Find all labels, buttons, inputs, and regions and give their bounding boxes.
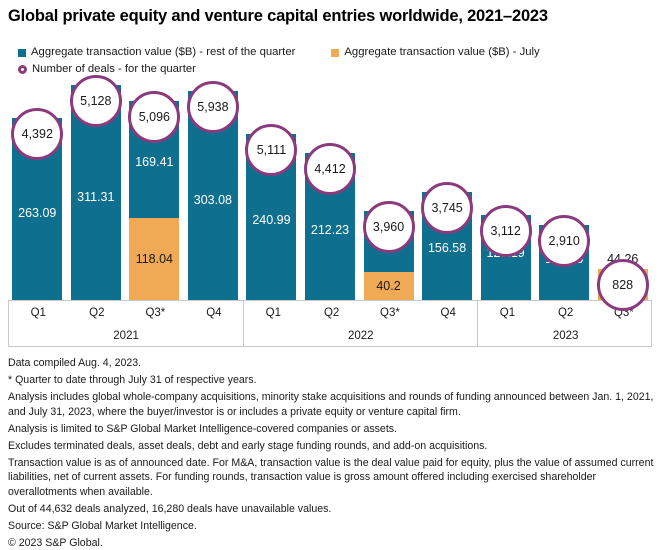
footnote-7: Out of 44,632 deals analyzed, 16,280 dea…: [8, 502, 654, 516]
deal-count-bubble[interactable]: 5,111: [245, 124, 297, 176]
footnote-2: * Quarter to date through July 31 of res…: [8, 373, 654, 387]
deal-count-bubble[interactable]: 3,745: [421, 182, 473, 234]
quarter-label-Q4[interactable]: Q4: [185, 301, 244, 326]
bar-value-label-rest-of-quarter: 240.99: [246, 213, 296, 227]
quarter-label-Q3star[interactable]: Q3*: [361, 301, 419, 326]
quarter-label-Q3star[interactable]: Q3*: [126, 301, 185, 326]
bar-value-label-rest-of-quarter: 303.08: [188, 193, 238, 207]
bar-value-label-rest-of-quarter: 212.23: [305, 223, 355, 237]
footnote-5: Excludes terminated deals, asset deals, …: [8, 439, 654, 453]
footnote-9: © 2023 S&P Global.: [8, 536, 654, 550]
year-cell-2022: Q1Q2Q3*Q42022: [243, 301, 477, 346]
year-label-2023: 2023: [478, 326, 653, 346]
quarter-label-Q2[interactable]: Q2: [68, 301, 127, 326]
quarter-label-Q2[interactable]: Q2: [537, 301, 595, 326]
bar-chart-plot-area: 263.094,392311.315,128118.04169.415,0963…: [0, 0, 660, 350]
bar-value-label-rest-of-quarter: 169.41: [129, 155, 179, 169]
footnote-8: Source: S&P Global Market Intelligence.: [8, 519, 654, 533]
footnote-6: Transaction value is as of announced dat…: [8, 456, 654, 499]
deal-count-bubble[interactable]: 5,938: [187, 81, 239, 133]
bar-value-label-july: 118.04: [129, 252, 179, 266]
deal-count-bubble[interactable]: 5,128: [70, 75, 122, 127]
footnotes-block: Data compiled Aug. 4, 2023.* Quarter to …: [8, 356, 654, 550]
footnote-1: Data compiled Aug. 4, 2023.: [8, 356, 654, 370]
year-label-2021: 2021: [9, 326, 243, 346]
footnote-3: Analysis includes global whole-company a…: [8, 390, 654, 418]
quarter-label-row: Q1Q2Q3*Q4: [9, 301, 243, 326]
quarter-label-Q1[interactable]: Q1: [9, 301, 68, 326]
quarter-label-Q4[interactable]: Q4: [419, 301, 477, 326]
year-cell-2021: Q1Q2Q3*Q42021: [9, 301, 243, 346]
bar-value-label-rest-of-quarter: 156.58: [422, 241, 472, 255]
quarter-label-Q1[interactable]: Q1: [478, 301, 536, 326]
bar-value-label-rest-of-quarter: 263.09: [12, 206, 62, 220]
bar-value-label-july: 40.2: [364, 279, 414, 293]
year-label-2022: 2022: [244, 326, 477, 346]
deal-count-bubble[interactable]: 3,960: [363, 201, 415, 253]
category-axis: Q1Q2Q3*Q42021Q1Q2Q3*Q42022Q1Q2Q3*2023: [8, 300, 652, 347]
deal-count-bubble[interactable]: 828: [597, 259, 649, 311]
quarter-label-Q2[interactable]: Q2: [302, 301, 360, 326]
bar-value-label-rest-of-quarter: 311.31: [71, 190, 121, 204]
quarter-label-Q1[interactable]: Q1: [244, 301, 302, 326]
deal-count-bubble[interactable]: 3,112: [480, 205, 532, 257]
footnote-4: Analysis is limited to S&P Global Market…: [8, 422, 654, 436]
deal-count-bubble[interactable]: 2,910: [538, 215, 590, 267]
quarter-label-row: Q1Q2Q3*Q4: [244, 301, 477, 326]
